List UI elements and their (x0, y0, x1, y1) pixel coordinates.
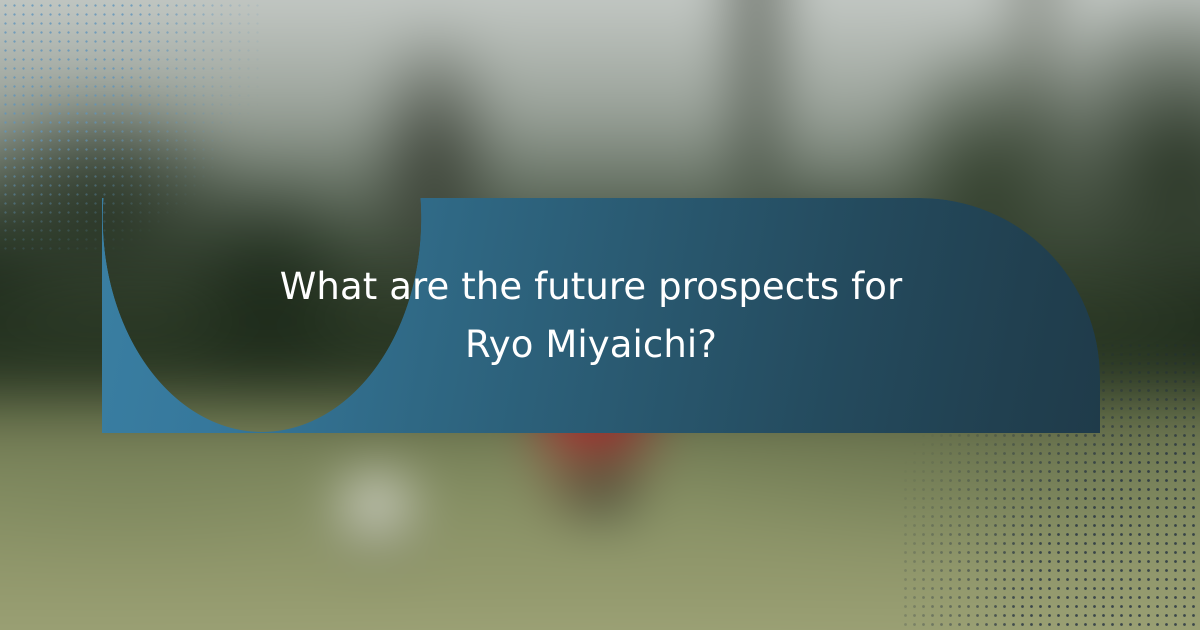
question-banner-text-wrap: What are the future prospects for Ryo Mi… (102, 198, 1100, 433)
screenshot-canvas: What are the future prospects for Ryo Mi… (0, 0, 1200, 630)
soccer-ball-icon (344, 477, 411, 540)
page-title: What are the future prospects for Ryo Mi… (252, 258, 930, 374)
player-boot (581, 480, 631, 512)
